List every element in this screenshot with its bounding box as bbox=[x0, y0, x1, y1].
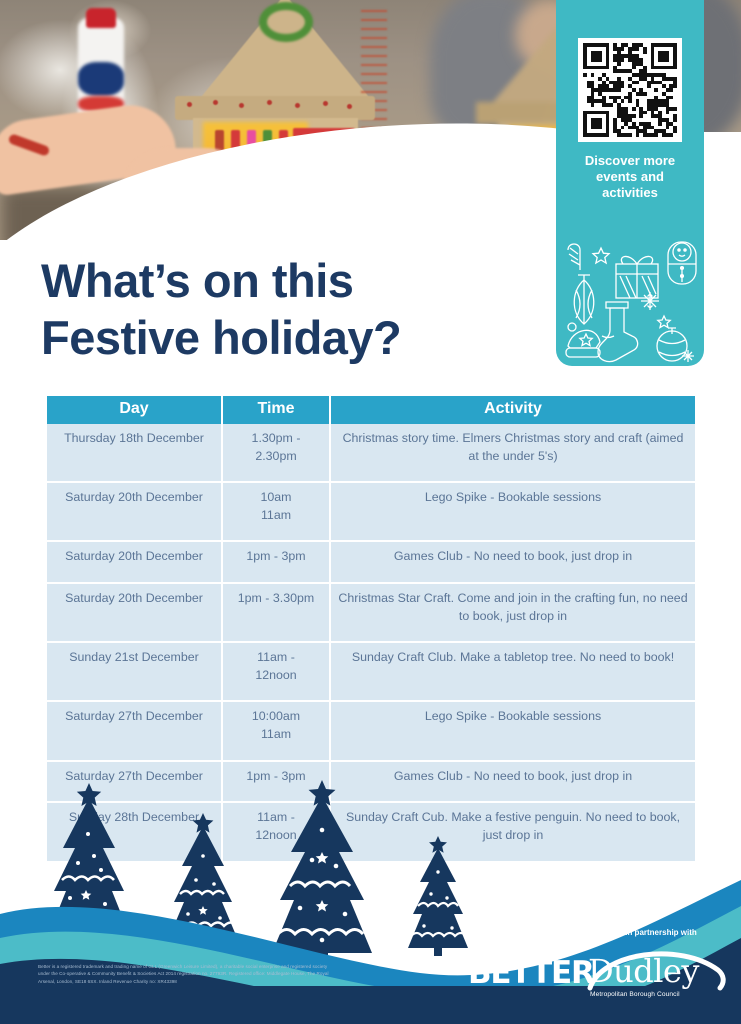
star-icon bbox=[580, 334, 592, 346]
dudley-logo: Dudley Metropolitan Borough Council bbox=[588, 950, 728, 1006]
legal-text: Better is a registered trademark and tra… bbox=[38, 963, 338, 985]
santa-hat-icon bbox=[566, 323, 600, 357]
dudley-logo-subtitle: Metropolitan Borough Council bbox=[590, 991, 722, 998]
cell-day: Saturday 20th December bbox=[47, 583, 222, 642]
table-header-row: Day Time Activity bbox=[47, 396, 695, 424]
qr-code[interactable] bbox=[578, 38, 682, 142]
cell-time: 11am -12noon bbox=[222, 642, 330, 701]
table-row: Saturday 20th December1pm - 3.30pmChrist… bbox=[47, 583, 695, 642]
christmas-tree bbox=[408, 836, 468, 956]
table-row: Saturday 20th December1pm - 3pmGames Clu… bbox=[47, 541, 695, 583]
cell-time: 1pm - 3pm bbox=[222, 541, 330, 583]
partnership-label: In partnership with bbox=[596, 928, 726, 937]
better-logo: BETTER bbox=[468, 955, 576, 991]
glue-bottle-label bbox=[78, 62, 124, 96]
cell-day: Saturday 20th December bbox=[47, 482, 222, 541]
cell-day: Thursday 18th December bbox=[47, 424, 222, 482]
page-title-line-1: What’s on this bbox=[41, 252, 511, 309]
cell-day: Saturday 27th December bbox=[47, 701, 222, 760]
table-row: Saturday 20th December10am11amLego Spike… bbox=[47, 482, 695, 541]
candy-cane-icon bbox=[568, 244, 580, 270]
column-header-day: Day bbox=[47, 396, 222, 424]
table-row: Thursday 18th December1.30pm -2.30pmChri… bbox=[47, 424, 695, 482]
column-header-activity: Activity bbox=[330, 396, 695, 424]
cell-time: 10am11am bbox=[222, 482, 330, 541]
table-row: Sunday 21st December11am -12noonSunday C… bbox=[47, 642, 695, 701]
snowflake-icon bbox=[682, 350, 694, 362]
ornament-icon bbox=[574, 275, 594, 324]
dudley-logo-name: Dudley bbox=[588, 952, 712, 990]
column-header-time: Time bbox=[222, 396, 330, 424]
cell-activity: Lego Spike - Bookable sessions bbox=[330, 701, 695, 760]
gift-icon bbox=[616, 256, 658, 298]
discover-more-panel[interactable]: Discover more events and activities bbox=[556, 0, 704, 366]
cell-time: 1pm - 3.30pm bbox=[222, 583, 330, 642]
snowman-icon bbox=[668, 242, 696, 284]
cell-activity: Lego Spike - Bookable sessions bbox=[330, 482, 695, 541]
page-title: What’s on this Festive holiday? bbox=[41, 252, 511, 367]
qr-caption: Discover more events and activities bbox=[568, 153, 693, 201]
star-icon bbox=[658, 316, 670, 328]
page-title-line-2: Festive holiday? bbox=[41, 309, 511, 366]
cell-day: Sunday 21st December bbox=[47, 642, 222, 701]
cell-time: 1.30pm -2.30pm bbox=[222, 424, 330, 482]
cell-activity: Christmas Star Craft. Come and join in t… bbox=[330, 583, 695, 642]
glue-bottle-cap bbox=[86, 8, 116, 28]
christmas-tree bbox=[272, 780, 372, 965]
cell-activity: Sunday Craft Club. Make a tabletop tree.… bbox=[330, 642, 695, 701]
cell-activity: Christmas story time. Elmers Christmas s… bbox=[330, 424, 695, 482]
wreath-icon bbox=[259, 2, 313, 42]
star-icon bbox=[593, 248, 609, 263]
cell-day: Saturday 20th December bbox=[47, 541, 222, 583]
stocking-icon bbox=[598, 302, 638, 362]
festive-events-poster: Discover more events and activities bbox=[0, 0, 741, 1024]
table-row: Saturday 27th December10:00am11amLego Sp… bbox=[47, 701, 695, 760]
snowflake-icon bbox=[641, 292, 659, 310]
cell-time: 10:00am11am bbox=[222, 701, 330, 760]
cell-activity: Games Club - No need to book, just drop … bbox=[330, 541, 695, 583]
better-logo-figure-head bbox=[519, 949, 530, 960]
festive-icon-cluster bbox=[556, 224, 704, 366]
